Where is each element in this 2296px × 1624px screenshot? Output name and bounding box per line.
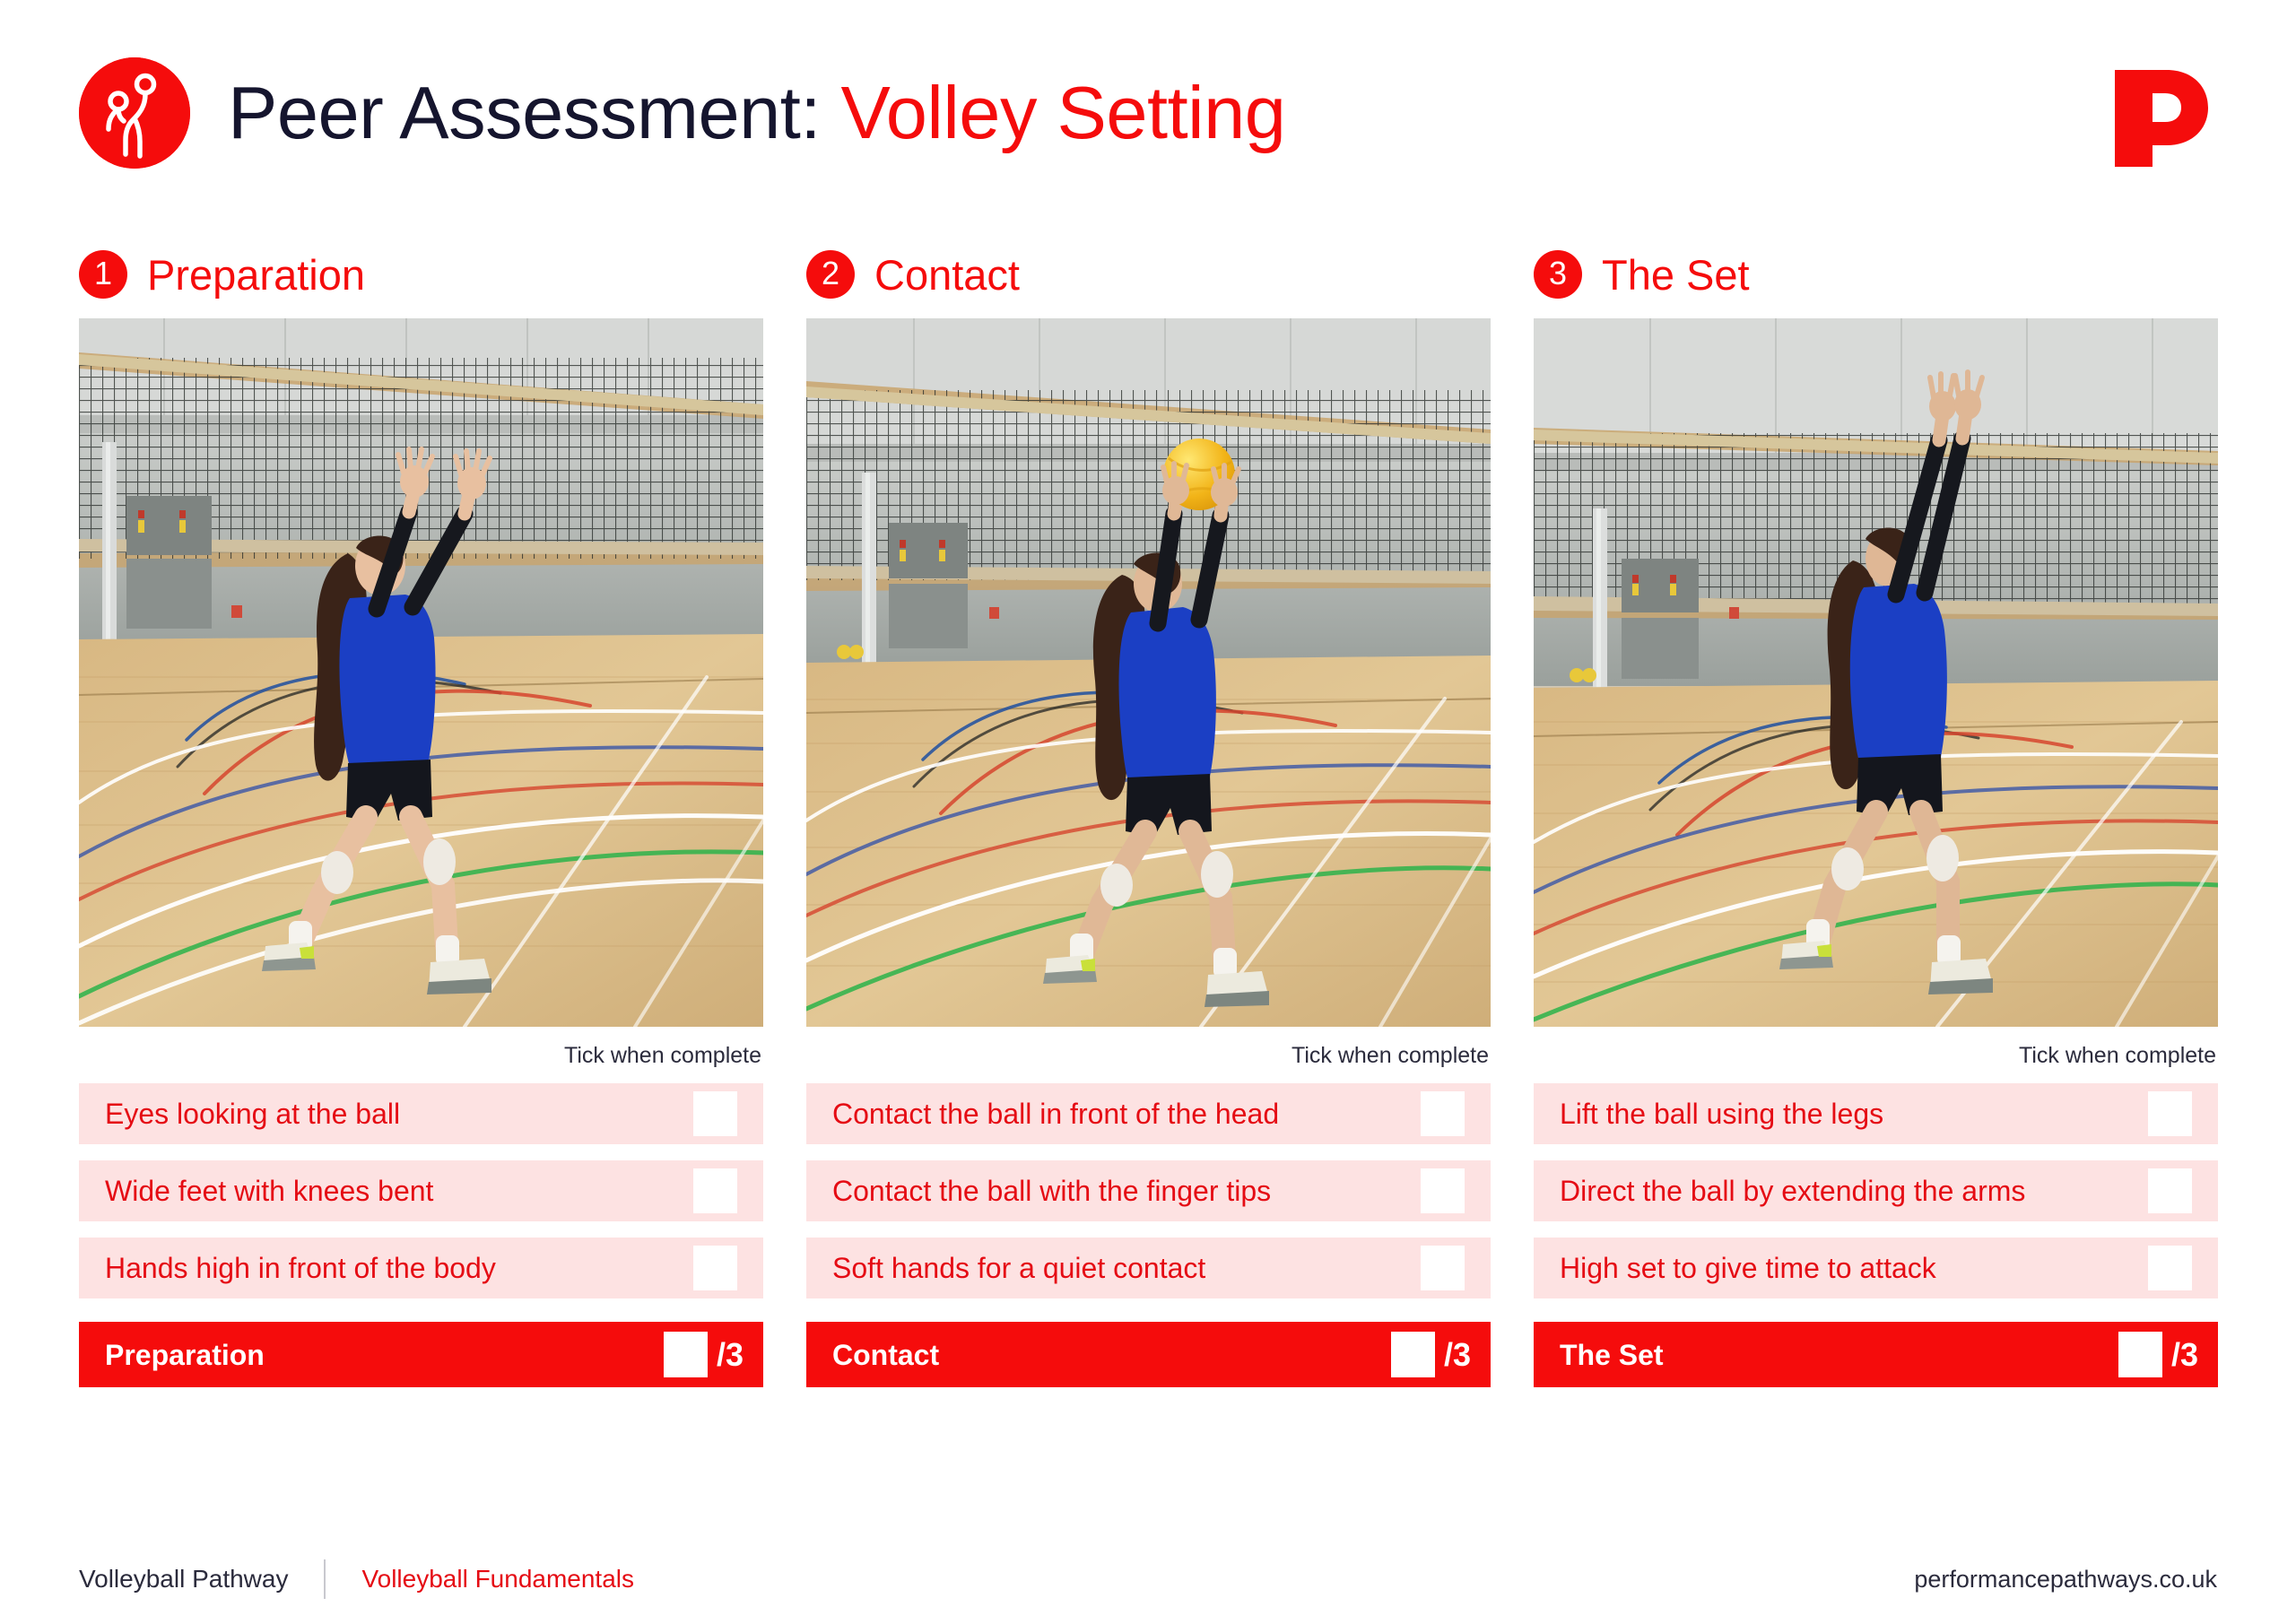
column-title: Contact (874, 254, 1020, 296)
criterion-text: Soft hands for a quiet contact (832, 1254, 1205, 1282)
column-title: Preparation (147, 254, 365, 296)
criterion-checkbox[interactable] (1421, 1168, 1465, 1213)
page-title: Peer Assessment: Volley Setting (228, 75, 1285, 150)
score-total: /3 (717, 1339, 744, 1371)
column-header: 1 Preparation (79, 247, 763, 302)
score-input[interactable] (1391, 1332, 1435, 1377)
score-label: The Set (1560, 1341, 1664, 1369)
score-bar: Preparation /3 (79, 1322, 763, 1387)
footer-pathway-label: Volleyball Pathway (79, 1565, 288, 1594)
worksheet-page: Peer Assessment: Volley Setting 1 Prepar… (0, 0, 2296, 1624)
score-total: /3 (2171, 1339, 2198, 1371)
column-the-set: 3 The Set (1534, 247, 2218, 1387)
criterion-row: Contact the ball in front of the head (806, 1083, 1491, 1144)
criterion-row: Lift the ball using the legs (1534, 1083, 2218, 1144)
score-entry: /3 (664, 1322, 744, 1387)
column-header: 3 The Set (1534, 247, 2218, 302)
footer-unit-label: Volleyball Fundamentals (361, 1565, 634, 1594)
tick-when-complete-label: Tick when complete (1534, 1043, 2218, 1069)
score-input[interactable] (2118, 1332, 2162, 1377)
criterion-text: Contact the ball in front of the head (832, 1099, 1279, 1128)
photo-contact (806, 318, 1491, 1027)
assessment-columns: 1 Preparation (79, 247, 2217, 1387)
criterion-row: Eyes looking at the ball (79, 1083, 763, 1144)
step-number-badge: 2 (806, 250, 855, 299)
criterion-row: High set to give time to attack (1534, 1238, 2218, 1298)
page-title-accent: Volley Setting (840, 71, 1285, 154)
footer-breadcrumb: Volleyball Pathway Volleyball Fundamenta… (79, 1559, 634, 1599)
score-input[interactable] (664, 1332, 708, 1377)
column-header: 2 Contact (806, 247, 1491, 302)
criterion-row: Hands high in front of the body (79, 1238, 763, 1298)
photo-preparation (79, 318, 763, 1027)
criterion-text: High set to give time to attack (1560, 1254, 1936, 1282)
footer-divider (324, 1559, 326, 1599)
tick-when-complete-label: Tick when complete (79, 1043, 763, 1069)
score-entry: /3 (1391, 1322, 1471, 1387)
column-title: The Set (1602, 254, 1750, 296)
step-number-badge: 3 (1534, 250, 1582, 299)
footer-website: performancepathways.co.uk (1914, 1566, 2217, 1594)
page-footer: Volleyball Pathway Volleyball Fundamenta… (79, 1557, 2217, 1602)
criterion-text: Hands high in front of the body (105, 1254, 496, 1282)
criterion-row: Soft hands for a quiet contact (806, 1238, 1491, 1298)
column-contact: 2 Contact (806, 247, 1491, 1387)
page-title-prefix: Peer Assessment: (228, 71, 840, 154)
tick-when-complete-label: Tick when complete (806, 1043, 1491, 1069)
criterion-checkbox[interactable] (1421, 1091, 1465, 1136)
column-preparation: 1 Preparation (79, 247, 763, 1387)
score-bar: Contact /3 (806, 1322, 1491, 1387)
step-number-badge: 1 (79, 250, 127, 299)
score-entry: /3 (2118, 1322, 2198, 1387)
volleyball-player-icon (79, 57, 190, 169)
criterion-text: Contact the ball with the finger tips (832, 1177, 1271, 1205)
criterion-text: Direct the ball by extending the arms (1560, 1177, 2025, 1205)
criterion-row: Direct the ball by extending the arms (1534, 1160, 2218, 1221)
score-total: /3 (1444, 1339, 1471, 1371)
criterion-text: Eyes looking at the ball (105, 1099, 400, 1128)
criterion-row: Wide feet with knees bent (79, 1160, 763, 1221)
criterion-text: Wide feet with knees bent (105, 1177, 433, 1205)
performance-pathways-p-logo (2100, 57, 2217, 174)
score-label: Contact (832, 1341, 939, 1369)
criterion-text: Lift the ball using the legs (1560, 1099, 1883, 1128)
criterion-checkbox[interactable] (693, 1246, 737, 1290)
score-bar: The Set /3 (1534, 1322, 2218, 1387)
criterion-checkbox[interactable] (693, 1091, 737, 1136)
criterion-checkbox[interactable] (2148, 1168, 2192, 1213)
photo-the-set (1534, 318, 2218, 1027)
criterion-checkbox[interactable] (2148, 1091, 2192, 1136)
page-header: Peer Assessment: Volley Setting (79, 52, 2217, 173)
score-label: Preparation (105, 1341, 265, 1369)
criterion-checkbox[interactable] (1421, 1246, 1465, 1290)
criterion-checkbox[interactable] (2148, 1246, 2192, 1290)
criterion-checkbox[interactable] (693, 1168, 737, 1213)
criterion-row: Contact the ball with the finger tips (806, 1160, 1491, 1221)
